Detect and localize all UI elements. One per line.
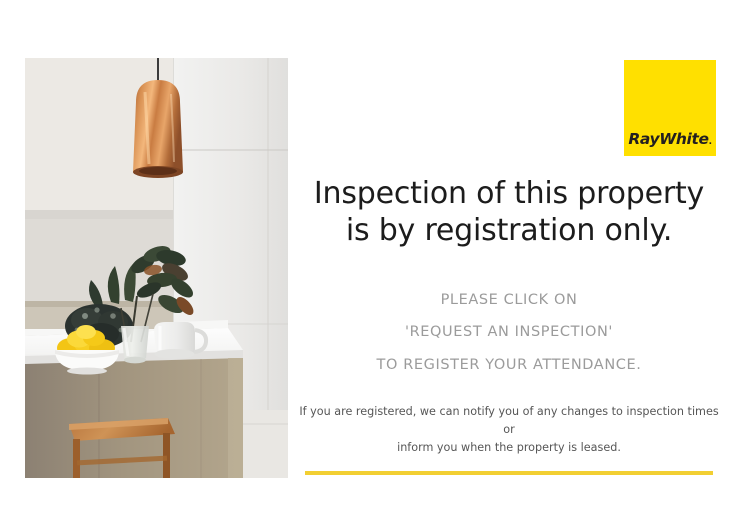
headline-line-2: is by registration only. — [296, 213, 722, 250]
instructions-block: PLEASE CLICK ON 'REQUEST AN INSPECTION' … — [296, 284, 722, 381]
notice-content: Inspection of this property is by regist… — [296, 176, 722, 458]
logo-wordmark: RayWhite — [628, 130, 708, 148]
fine-print-line-2: inform you when the property is leased. — [296, 439, 722, 457]
page-title: Inspection of this property is by regist… — [296, 176, 722, 250]
ray-white-logo: RayWhite. — [624, 60, 716, 156]
fine-print-line-1: If you are registered, we can notify you… — [296, 403, 722, 439]
instruction-line-2: 'REQUEST AN INSPECTION' — [296, 316, 722, 348]
fine-print-block: If you are registered, we can notify you… — [296, 403, 722, 457]
logo-trademark-mark: . — [709, 137, 712, 147]
ray-white-logo-text: RayWhite. — [628, 132, 711, 148]
instruction-line-3: TO REGISTER YOUR ATTENDANCE. — [296, 349, 722, 381]
kitchen-interior-photo — [25, 58, 288, 478]
yellow-divider — [305, 471, 713, 475]
instruction-line-1: PLEASE CLICK ON — [296, 284, 722, 316]
photo-artwork — [25, 58, 288, 478]
headline-line-1: Inspection of this property — [296, 176, 722, 213]
inspection-notice-card: RayWhite. Inspection of this property is… — [0, 0, 750, 530]
